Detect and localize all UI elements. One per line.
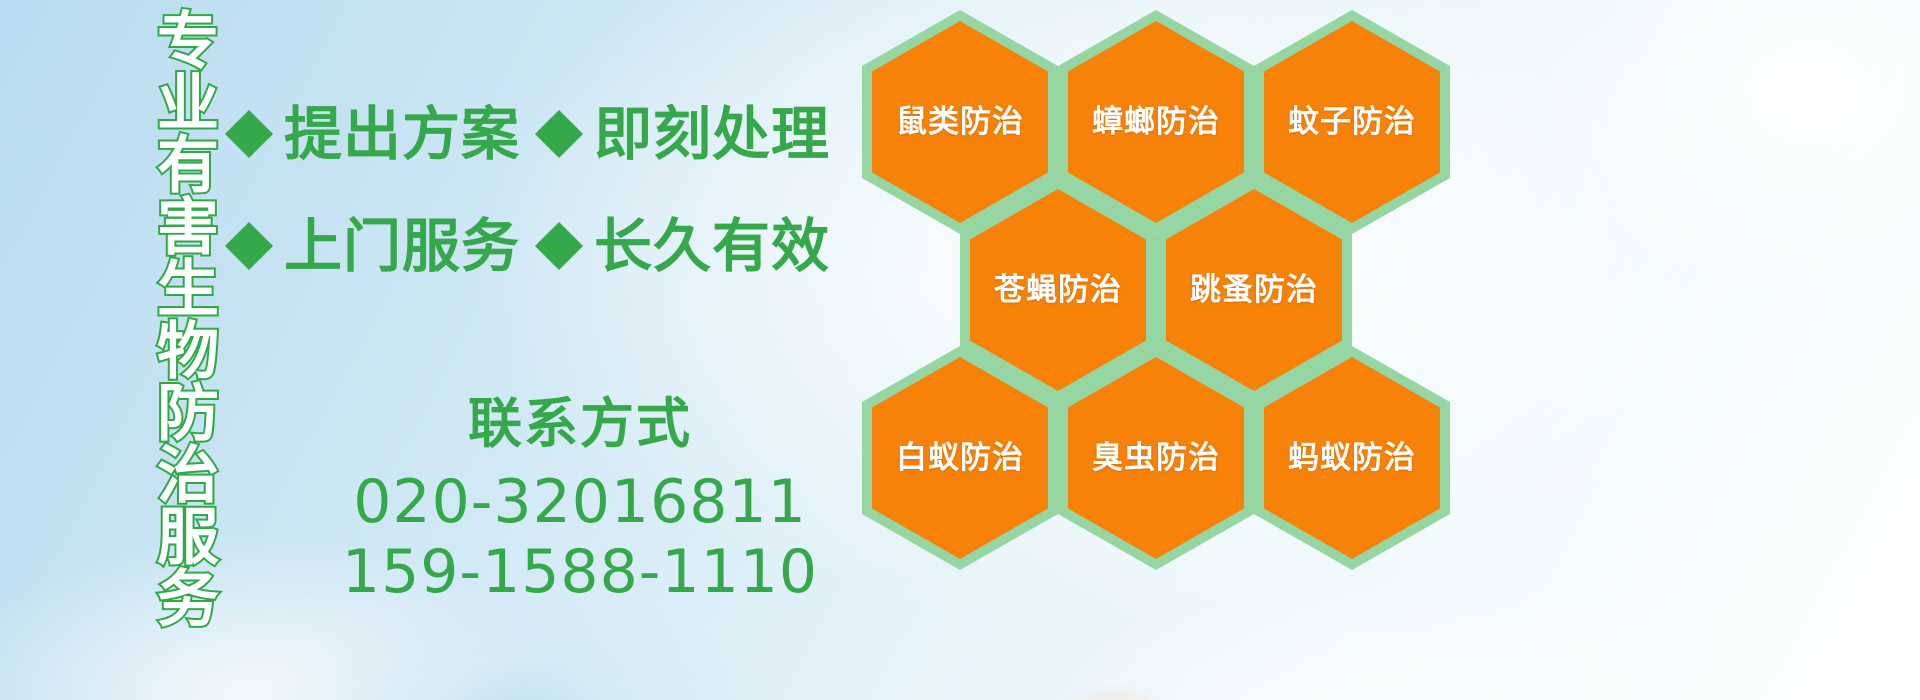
hex-label: 臭虫防治 <box>1092 443 1220 474</box>
diamond-bullet-icon <box>535 222 583 270</box>
hex-inner: 臭虫防治 <box>1068 357 1244 559</box>
diamond-bullet-icon <box>535 110 583 158</box>
background-glow-top-right <box>1540 0 1920 300</box>
feature-label: 提出方案 <box>284 105 520 163</box>
hex-inner: 蚊子防治 <box>1264 21 1440 223</box>
hex-inner: 蟑螂防治 <box>1068 21 1244 223</box>
contact-block: 联系方式 020-32016811 159-1588-1110 <box>300 396 860 608</box>
background-blob-blue <box>430 660 610 700</box>
hex-label: 苍蝇防治 <box>994 275 1122 306</box>
feature-label: 即刻处理 <box>594 105 830 163</box>
diamond-bullet-icon <box>225 110 273 158</box>
hex-inner: 白蚁防治 <box>872 357 1048 559</box>
contact-phone-mobile[interactable]: 159-1588-1110 <box>300 537 860 608</box>
hex-inner: 跳蚤防治 <box>1166 189 1342 391</box>
hex-inner: 苍蝇防治 <box>970 189 1146 391</box>
feature-item-onsite-service: 上门服务 <box>232 217 520 275</box>
feature-item-propose-plan: 提出方案 <box>232 105 520 163</box>
hex-inner: 蚂蚁防治 <box>1264 357 1440 559</box>
feature-item-immediate-handling: 即刻处理 <box>542 105 830 163</box>
feature-label: 长久有效 <box>594 217 830 275</box>
pest-control-banner: 专业有害生物防治服务 提出方案 即刻处理 上门服务 长久有效 联系方式 0 <box>0 0 1920 700</box>
feature-label: 上门服务 <box>284 217 520 275</box>
hex-label: 跳蚤防治 <box>1190 275 1318 306</box>
contact-heading: 联系方式 <box>300 396 860 453</box>
hex-label: 蟑螂防治 <box>1092 107 1220 138</box>
vertical-headline: 专业有害生物防治服务 <box>104 8 214 568</box>
contact-phone-landline[interactable]: 020-32016811 <box>300 467 860 538</box>
feature-row: 提出方案 即刻处理 <box>232 78 882 190</box>
diamond-bullet-icon <box>225 222 273 270</box>
hex-inner: 鼠类防治 <box>872 21 1048 223</box>
hex-label: 蚂蚁防治 <box>1288 443 1416 474</box>
feature-item-long-lasting: 长久有效 <box>542 217 830 275</box>
hex-label: 鼠类防治 <box>896 107 1024 138</box>
hex-label: 白蚁防治 <box>896 443 1024 474</box>
service-honeycomb: 鼠类防治 蟑螂防治 蚊子防治 苍蝇防治 跳蚤防治 白蚁防治 <box>862 0 1462 700</box>
feature-row: 上门服务 长久有效 <box>232 190 882 302</box>
feature-list: 提出方案 即刻处理 上门服务 长久有效 <box>232 78 882 302</box>
hex-label: 蚊子防治 <box>1288 107 1416 138</box>
